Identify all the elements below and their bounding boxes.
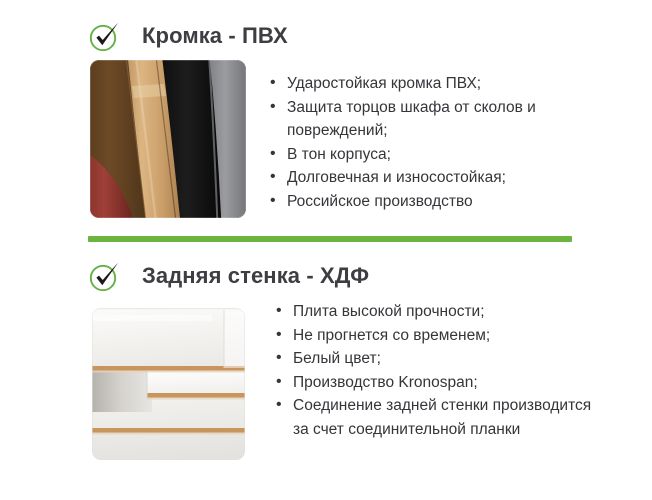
white-hdf-boards-photo bbox=[92, 308, 245, 460]
section-heading-row: Кромка - ПВХ bbox=[88, 18, 288, 54]
green-check-circle-icon bbox=[88, 19, 122, 53]
section-heading-row: Задняя стенка - ХДФ bbox=[88, 258, 369, 294]
section-title: Задняя стенка - ХДФ bbox=[142, 265, 369, 287]
feature-bullet-list: Плита высокой прочности; Не прогнется со… bbox=[276, 300, 596, 441]
feature-bullet-list: Ударостойкая кромка ПВХ; Защита торцов ш… bbox=[270, 72, 600, 213]
green-section-divider bbox=[88, 236, 572, 242]
list-item: В тон корпуса; bbox=[270, 143, 600, 167]
list-item: Соединение задней стенки производится за… bbox=[276, 394, 596, 441]
section-body-row: Плита высокой прочности; Не прогнется со… bbox=[0, 295, 652, 495]
list-item: Белый цвет; bbox=[276, 347, 596, 371]
list-item: Российское производство bbox=[270, 190, 600, 214]
list-item: Плита высокой прочности; bbox=[276, 300, 596, 324]
list-item: Защита торцов шкафа от сколов и поврежде… bbox=[270, 96, 600, 143]
list-item: Долговечная и износостойкая; bbox=[270, 166, 600, 190]
product-features-page: Кромка - ПВХ bbox=[0, 0, 652, 500]
pvc-edge-banding-rolls-photo bbox=[90, 60, 246, 218]
green-check-circle-icon bbox=[88, 259, 122, 293]
list-item: Производство Kronospan; bbox=[276, 371, 596, 395]
section-title: Кромка - ПВХ bbox=[142, 25, 288, 47]
section-body-row: Ударостойкая кромка ПВХ; Защита торцов ш… bbox=[0, 60, 652, 235]
list-item: Ударостойкая кромка ПВХ; bbox=[270, 72, 600, 96]
list-item: Не прогнется со временем; bbox=[276, 324, 596, 348]
